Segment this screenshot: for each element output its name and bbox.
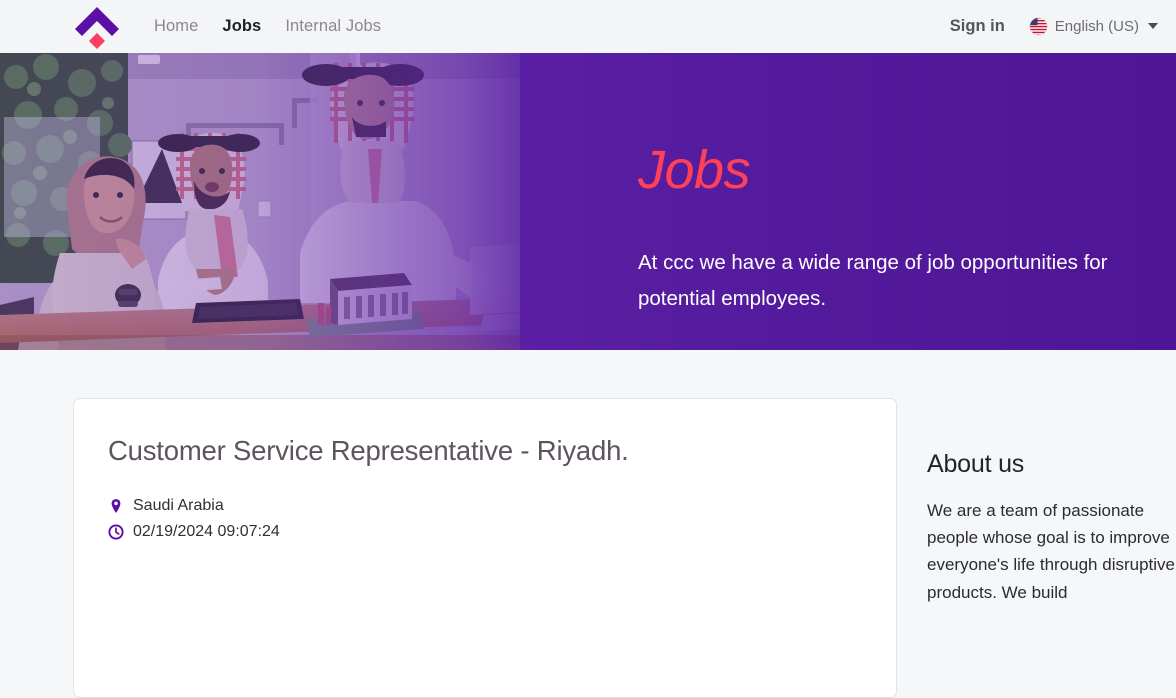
job-listing-card[interactable]: Customer Service Representative - Riyadh… [73,398,897,698]
language-label: English (US) [1055,18,1139,35]
about-us-sidebar: About us We are a team of passionate peo… [927,350,1176,606]
top-navigation-bar: Home Jobs Internal Jobs Sign in [0,0,1176,53]
about-us-title: About us [927,450,1176,479]
sign-in-button[interactable]: Sign in [950,17,1005,36]
hero-banner: Jobs At ccc we have a wide range of job … [0,53,1176,350]
job-meta-list: Saudi Arabia 02/19/2024 09:07:24 [108,493,896,545]
navbar-right-group: Sign in [950,0,1158,53]
nav-link-home[interactable]: Home [154,17,198,36]
job-location-row: Saudi Arabia [108,493,896,519]
main-content: Customer Service Representative - Riyadh… [0,350,1176,584]
nav-link-internal-jobs[interactable]: Internal Jobs [285,17,381,36]
language-selector[interactable]: English (US) [1029,17,1158,36]
hero-text-block: Jobs At ccc we have a wide range of job … [638,53,1176,318]
job-title: Customer Service Representative - Riyadh… [108,435,896,467]
job-datetime-value: 02/19/2024 09:07:24 [133,519,280,545]
primary-nav-links: Home Jobs Internal Jobs [154,0,381,53]
nav-link-jobs[interactable]: Jobs [222,17,261,36]
hero-title: Jobs [638,143,1176,197]
hero-subtitle: At ccc we have a wide range of job oppor… [638,245,1176,318]
clock-icon [108,524,124,540]
job-datetime-row: 02/19/2024 09:07:24 [108,519,896,545]
about-us-body: We are a team of passionate people whose… [927,497,1176,606]
location-pin-icon [108,498,124,514]
job-location-value: Saudi Arabia [133,493,224,519]
us-flag-icon [1029,17,1048,36]
company-logo[interactable] [72,3,122,51]
chevron-down-icon [1148,23,1158,29]
